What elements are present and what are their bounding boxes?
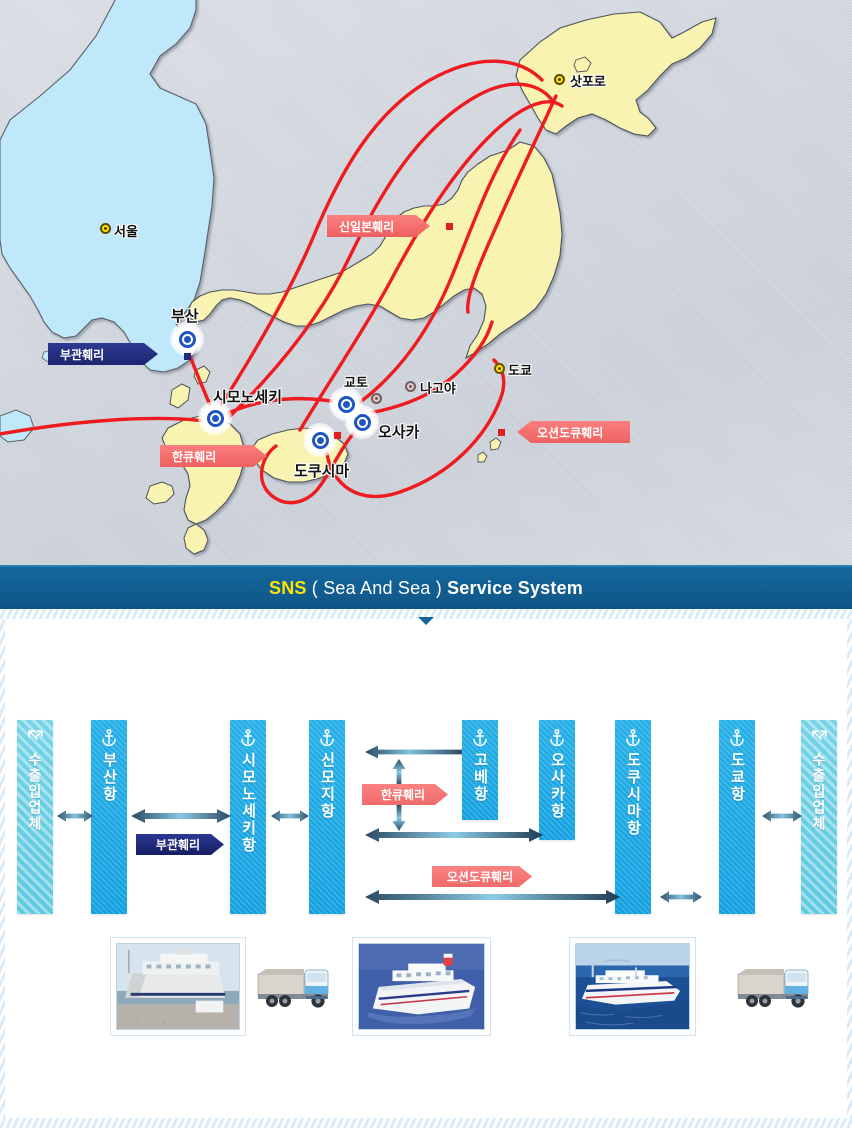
- column-shinmoji-port[interactable]: 신모지항: [309, 720, 345, 914]
- anchor-icon: [728, 728, 746, 747]
- panel-pointer-notch: [418, 617, 434, 625]
- map-ribbon-bukwan-ferry: 부관훼리: [48, 343, 158, 365]
- page-title: SNS ( Sea And Sea ) Service System: [269, 578, 583, 599]
- truck-photo-right: [736, 960, 818, 1013]
- map-ribbon-shinnihon-ferry: 신일본훼리: [327, 215, 430, 237]
- column-label: 수출입업체: [809, 752, 829, 832]
- panel-left-edge: [0, 619, 5, 1118]
- title-bold: Service System: [447, 578, 583, 598]
- arrow-shimonoseki-to-shinmoji: [271, 809, 309, 823]
- route-square-oceando: [498, 429, 505, 436]
- column-label: 도쿠시마항: [623, 752, 644, 837]
- city-marker-sapporo: [554, 74, 565, 85]
- column-label: 도쿄항: [727, 752, 748, 803]
- cruise-ferry-photo: [352, 937, 491, 1036]
- city-marker-tokyo: [494, 363, 505, 374]
- port-marker-busan: [170, 322, 204, 356]
- map-geometry: [0, 0, 852, 565]
- column-busan-port[interactable]: 부산항: [91, 720, 127, 914]
- column-label: 신모지항: [317, 752, 338, 820]
- column-label: 오사카항: [547, 752, 568, 820]
- anchor-icon: [548, 728, 566, 747]
- city-label-tokyo: 도쿄: [508, 360, 532, 379]
- column-label: 고베항: [470, 752, 491, 803]
- city-marker-seoul: [100, 223, 111, 234]
- sea-ferry-photo: [569, 937, 696, 1036]
- arrow-kobe-to-shinmoji-inbound: [365, 745, 462, 759]
- city-label-nagoya: 나고야: [420, 378, 456, 397]
- route-square-bukwan: [184, 353, 191, 360]
- anchor-icon: [471, 728, 489, 747]
- map-ribbon-hankyu-ferry: 한큐훼리: [160, 445, 267, 467]
- column-label: 부산항: [99, 752, 120, 803]
- truck-photo-left: [256, 960, 338, 1013]
- diagram-ribbon-bukwan-ferry: 부관훼리: [136, 834, 224, 855]
- arrow-shinmoji-to-osaka: [365, 827, 543, 843]
- panel-bottom-hatch: [0, 1118, 852, 1128]
- diagram-ribbon-oceando-ferry: 오션도큐훼리: [432, 866, 532, 887]
- arrow-shinmoji-to-tokushima: [365, 889, 620, 905]
- column-shimonoseki-port[interactable]: 시모노세키항: [230, 720, 266, 914]
- port-label-osaka: 오사카: [378, 421, 419, 442]
- column-export-import-left[interactable]: 수출입업체: [17, 720, 53, 914]
- port-marker-kobe: [329, 387, 363, 421]
- kyushu-landmass: [162, 416, 244, 524]
- city-label-seoul: 서울: [114, 221, 138, 240]
- diagram-ribbon-hankyu-ferry: 한큐훼리: [362, 784, 448, 805]
- port-label-tokushima: 도쿠시마: [294, 460, 349, 481]
- honshu-landmass: [188, 142, 562, 358]
- route-square-shinnihon: [446, 223, 453, 230]
- panel-right-edge: [847, 619, 852, 1118]
- arrow-hankyu-up: [392, 759, 406, 785]
- city-label-sapporo: 삿포로: [570, 71, 606, 90]
- export-icon: [810, 728, 829, 747]
- arrow-entity-to-busan: [57, 809, 93, 823]
- route-map: 서울 삿포로 나고야 도쿄 교토 부산 시모노세키 오사카 도쿠시마 신일본훼리…: [0, 0, 852, 565]
- anchor-icon: [100, 728, 118, 747]
- anchor-icon: [624, 728, 642, 747]
- city-marker-nagoya: [405, 381, 416, 392]
- column-label: 시모노세키항: [238, 752, 259, 854]
- title-middle: ( Sea And Sea ): [307, 578, 447, 598]
- title-sns: SNS: [269, 578, 307, 598]
- column-label: 수출입업체: [25, 752, 45, 832]
- section-title-bar: SNS ( Sea And Sea ) Service System: [0, 565, 852, 609]
- port-label-busan: 부산: [171, 305, 199, 326]
- port-label-shimonoseki: 시모노세키: [213, 386, 282, 407]
- map-ribbon-oceando-ferry: 오션도큐훼리: [517, 421, 630, 443]
- column-tokushima-port[interactable]: 도쿠시마항: [615, 720, 651, 914]
- route-square-hankyu: [334, 432, 341, 439]
- column-kobe-port[interactable]: 고베항: [462, 720, 498, 820]
- port-marker-tokushima: [303, 423, 337, 457]
- anchor-icon: [239, 728, 257, 747]
- anchor-icon: [318, 728, 336, 747]
- ferry-at-port-photo: [110, 937, 246, 1036]
- column-export-import-right[interactable]: 수출입업체: [801, 720, 837, 914]
- column-tokyo-port[interactable]: 도쿄항: [719, 720, 755, 914]
- service-system-diagram: 수출입업체 부산항 시모노세키항: [0, 609, 852, 1128]
- export-icon: [26, 728, 45, 747]
- city-marker-kyoto-dot: [371, 393, 382, 404]
- sns-service-system-page: 서울 삿포로 나고야 도쿄 교토 부산 시모노세키 오사카 도쿠시마 신일본훼리…: [0, 0, 852, 1126]
- arrow-tokushima-to-tokyo: [660, 890, 702, 904]
- arrow-busan-to-shimonoseki: [131, 808, 231, 824]
- column-osaka-port[interactable]: 오사카항: [539, 720, 575, 840]
- arrow-tokyo-to-entity: [762, 809, 802, 823]
